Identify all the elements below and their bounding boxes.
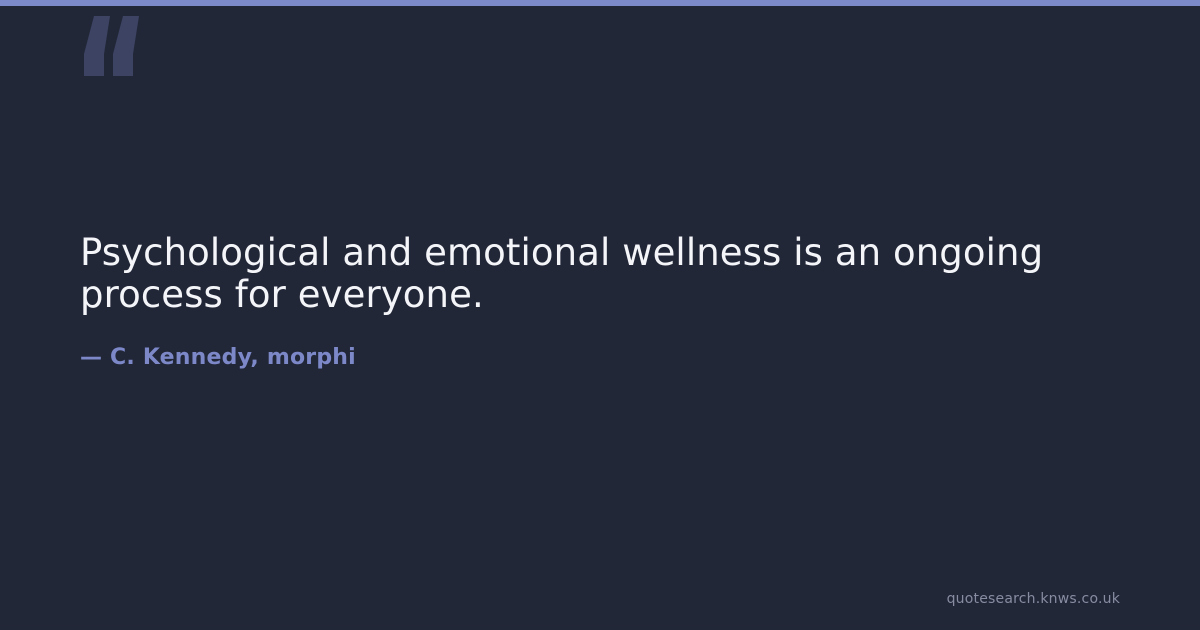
top-accent-bar bbox=[0, 0, 1200, 6]
quote-body: Psychological and emotional wellness is … bbox=[80, 232, 1090, 316]
open-quote-icon bbox=[80, 6, 150, 86]
quote-attribution: — C. Kennedy, morphi bbox=[80, 343, 356, 373]
quote-text: Psychological and emotional wellness is … bbox=[80, 232, 1090, 316]
site-footer-url: quotesearch.knws.co.uk bbox=[947, 590, 1120, 608]
quote-card: Psychological and emotional wellness is … bbox=[0, 0, 1200, 630]
